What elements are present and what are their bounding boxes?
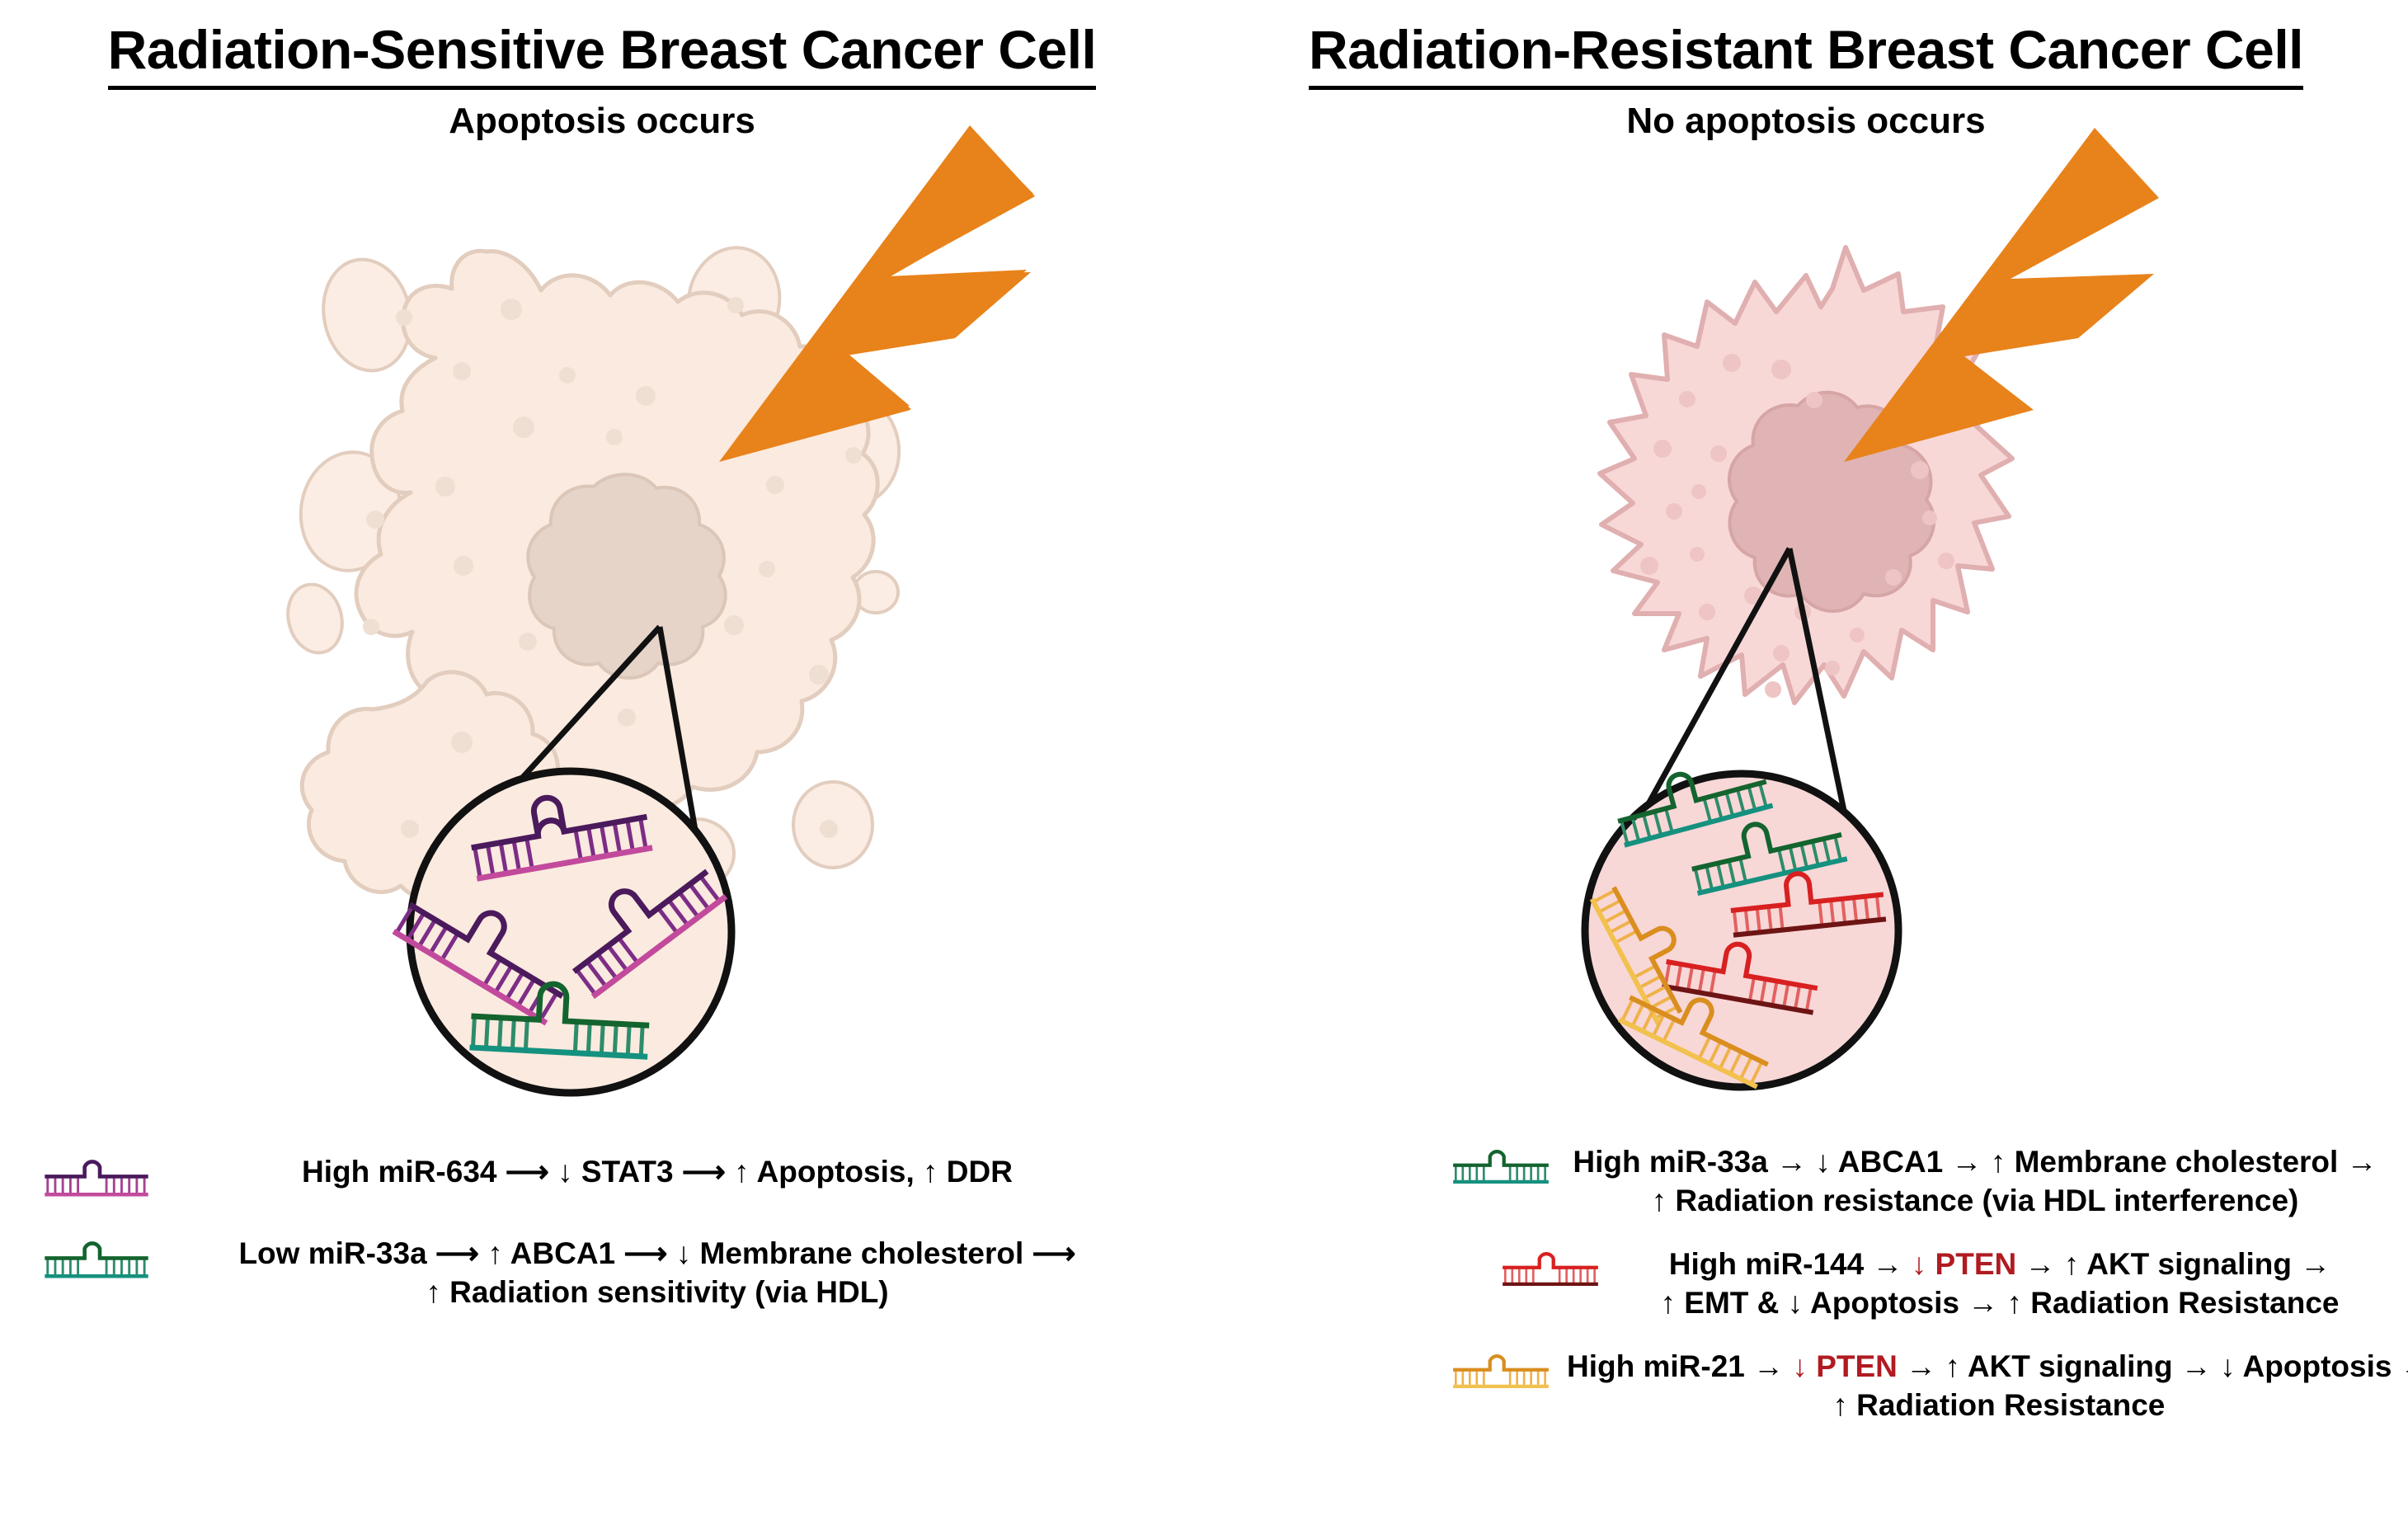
legend-item-mir144: High miR-144 → ↓ PTEN → ↑ AKT signaling … bbox=[1204, 1245, 2408, 1323]
legend-text-mir144: High miR-144 → ↓ PTEN → ↑ AKT signaling … bbox=[1616, 1245, 2408, 1323]
mirna-hairpin-red-icon bbox=[1501, 1250, 1600, 1296]
legend-item-mir634: High miR-634 ⟶ ↓ STAT3 ⟶ ↑ Apoptosis, ↑ … bbox=[0, 1153, 1204, 1207]
legend-item-mir33a-low: Low miR-33a ⟶ ↑ ABCA1 ⟶ ↓ Membrane chole… bbox=[0, 1235, 1204, 1312]
legend-text-mir33a-high: High miR-33a → ↓ ABCA1 → ↑ Membrane chol… bbox=[1567, 1143, 2408, 1221]
illustration-sensitive-cell bbox=[0, 0, 1204, 1155]
illustration-resistant-cell bbox=[1204, 0, 2408, 1155]
panel-radiation-resistant: Radiation-Resistant Breast Cancer Cell N… bbox=[1204, 0, 2408, 1530]
mirna-hairpin-purple-icon bbox=[43, 1158, 150, 1207]
legend-text-mir634: High miR-634 ⟶ ↓ STAT3 ⟶ ↑ Apoptosis, ↑ … bbox=[168, 1153, 1204, 1192]
legend-sensitive: High miR-634 ⟶ ↓ STAT3 ⟶ ↑ Apoptosis, ↑ … bbox=[0, 1153, 1204, 1340]
mirna-hairpin-green-icon bbox=[43, 1240, 150, 1288]
panel-radiation-sensitive: Radiation-Sensitive Breast Cancer Cell A… bbox=[0, 0, 1204, 1530]
legend-resistant: High miR-33a → ↓ ABCA1 → ↑ Membrane chol… bbox=[1204, 1143, 2408, 1450]
legend-text-mir33a-low: Low miR-33a ⟶ ↑ ABCA1 ⟶ ↓ Membrane chole… bbox=[168, 1235, 1204, 1312]
mirna-hairpin-green-icon bbox=[1451, 1148, 1550, 1193]
mirna-hairpin-yellow-icon bbox=[1451, 1353, 1550, 1398]
legend-item-mir33a-high: High miR-33a → ↓ ABCA1 → ↑ Membrane chol… bbox=[1204, 1143, 2408, 1221]
legend-item-mir21: High miR-21 → ↓ PTEN → ↑ AKT signaling →… bbox=[1204, 1348, 2408, 1425]
legend-text-mir21: High miR-21 → ↓ PTEN → ↑ AKT signaling →… bbox=[1567, 1348, 2408, 1425]
